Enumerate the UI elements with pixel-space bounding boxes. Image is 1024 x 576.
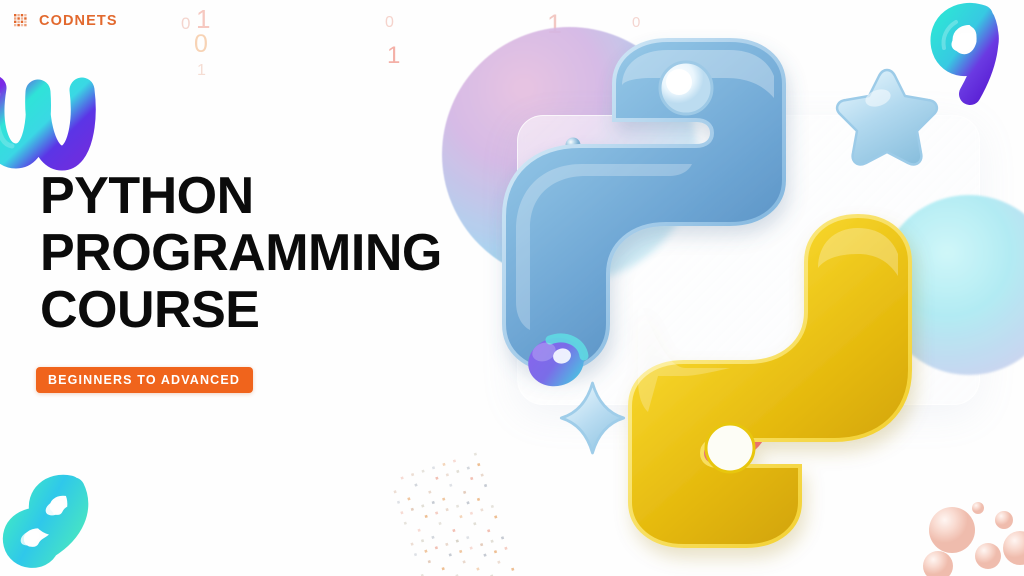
title-line-2: PROGRAMMING bbox=[40, 225, 442, 282]
binary-digit: 0 bbox=[385, 14, 394, 32]
squiggle-s-bottomleft bbox=[0, 474, 118, 576]
binary-digit: 0 bbox=[194, 30, 208, 59]
brand-name: CODNETS bbox=[39, 14, 118, 29]
poster-canvas: 10010110 CODNETS PYTHON PROGRAMMING COUR… bbox=[0, 0, 1024, 576]
title-line-3: COURSE bbox=[40, 282, 442, 339]
squiggle-nine-topright bbox=[920, 0, 1024, 110]
brand-logo[interactable]: CODNETS bbox=[14, 14, 118, 29]
title-line-1: PYTHON bbox=[40, 168, 442, 225]
dot-grid-icon bbox=[14, 14, 33, 29]
binary-digit: 0 bbox=[181, 14, 190, 34]
binary-digit: 1 bbox=[387, 42, 400, 70]
spiral-donut-purple bbox=[523, 332, 589, 392]
sparkle-4point-blue bbox=[561, 383, 624, 453]
level-badge: BEGINNERS TO ADVANCED bbox=[36, 367, 253, 393]
page-title: PYTHON PROGRAMMING COURSE bbox=[40, 168, 442, 339]
squiggle-w-left bbox=[0, 58, 96, 178]
binary-digit: 1 bbox=[197, 62, 206, 80]
grid-dot bbox=[393, 490, 396, 493]
